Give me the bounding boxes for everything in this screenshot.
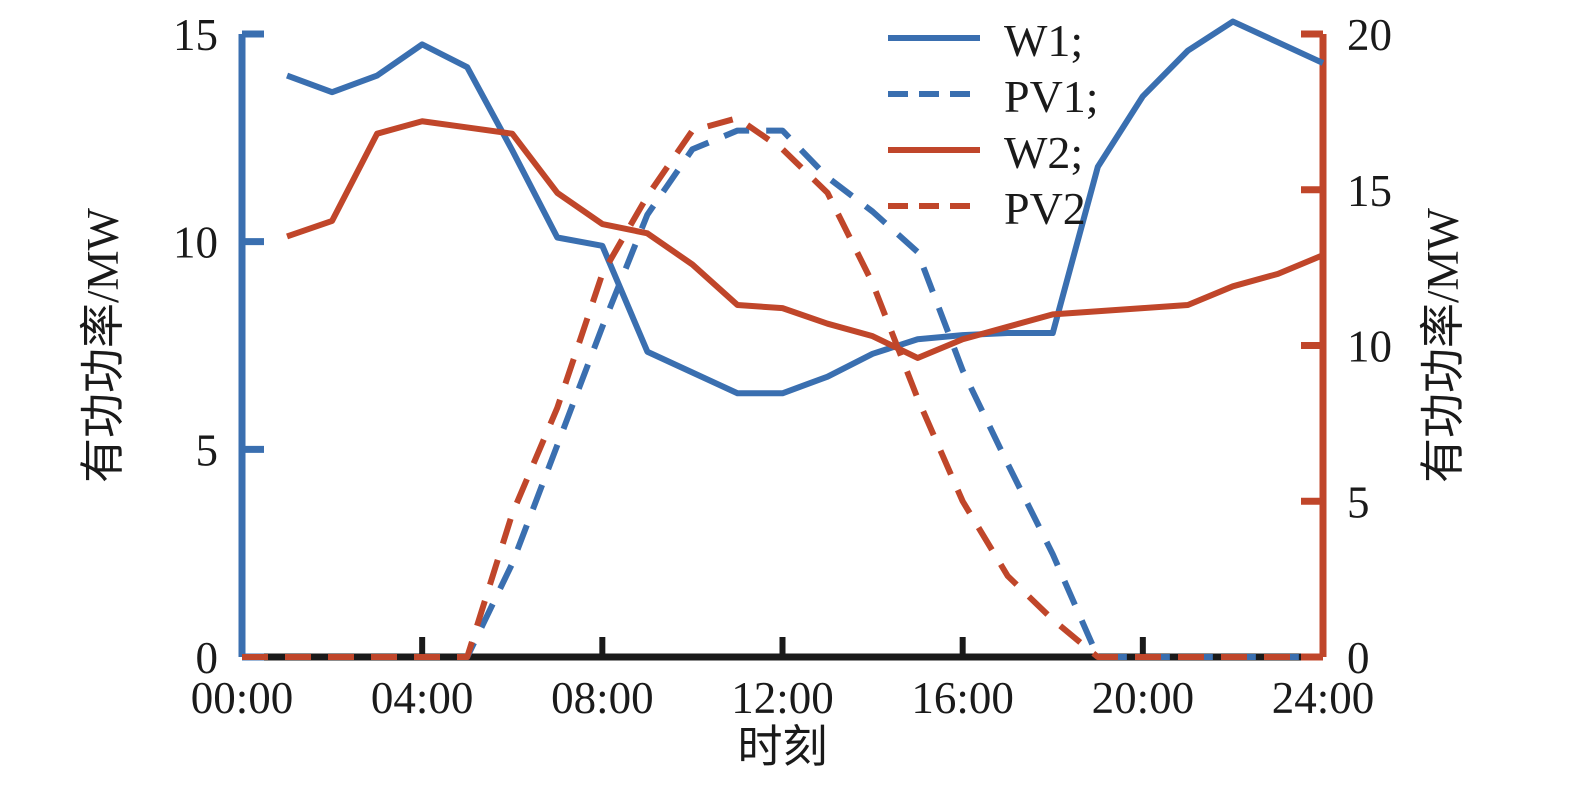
x-axis-tick-label: 04:00 (371, 673, 474, 723)
left-axis-tick-label: 10 (173, 218, 218, 268)
left-axis-title: 有功功率/MW (78, 207, 128, 483)
right-axis-title: 有功功率/MW (1418, 207, 1468, 483)
x-axis-tick-label: 12:00 (731, 673, 834, 723)
x-axis-tick-label: 00:00 (191, 673, 294, 723)
right-axis-tick-label: 15 (1347, 166, 1392, 216)
right-axis-tick-label: 10 (1347, 322, 1392, 372)
left-axis-tick-label: 15 (173, 10, 218, 60)
dual-axis-line-chart: 0510150510152000:0004:0008:0012:0016:002… (0, 0, 1575, 788)
right-axis-tick-label: 5 (1347, 477, 1370, 527)
legend-label-w2: W2; (1004, 127, 1083, 178)
chart-figure: 0510150510152000:0004:0008:0012:0016:002… (0, 0, 1575, 788)
x-axis-tick-label: 24:00 (1272, 673, 1375, 723)
right-axis-tick-label: 20 (1347, 10, 1392, 60)
legend-label-pv1: PV1; (1004, 71, 1099, 122)
x-axis-tick-label: 20:00 (1092, 673, 1195, 723)
x-axis-tick-label: 08:00 (551, 673, 654, 723)
left-axis-tick-label: 5 (196, 425, 219, 475)
legend-label-pv2: PV2 (1004, 183, 1086, 234)
x-axis-title: 时刻 (737, 722, 827, 772)
legend-label-w1: W1; (1004, 15, 1083, 66)
x-axis-tick-label: 16:00 (911, 673, 1014, 723)
